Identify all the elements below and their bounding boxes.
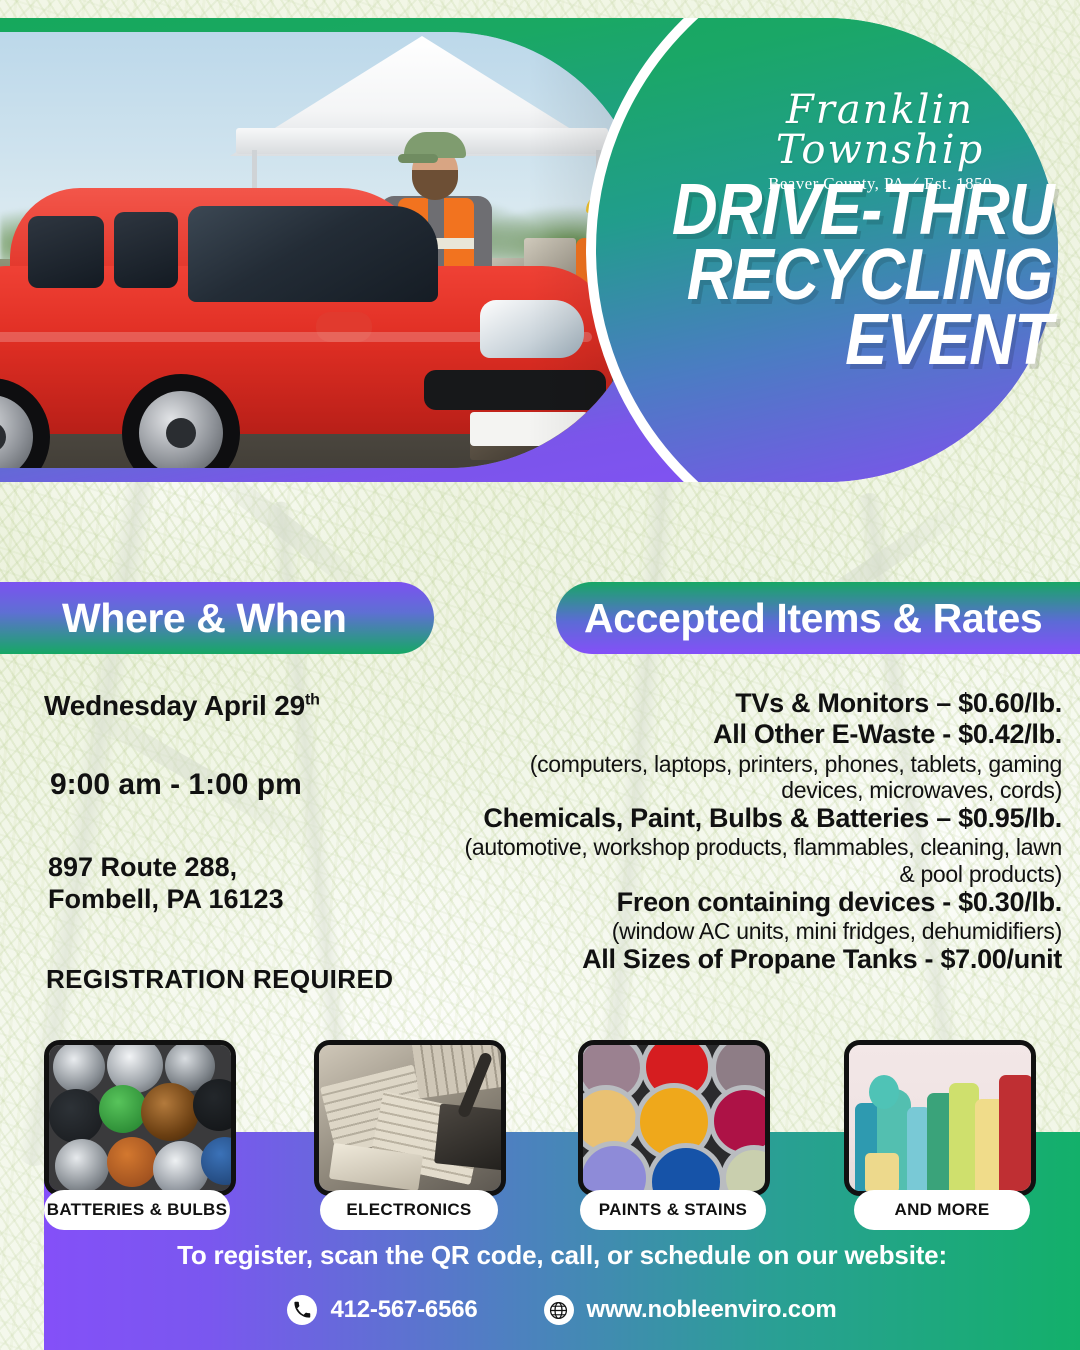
category-thumb-and-more [844, 1040, 1036, 1196]
globe-icon [544, 1295, 574, 1325]
footer-contact: To register, scan the QR code, call, or … [44, 1240, 1080, 1325]
battery-cell [55, 1139, 109, 1193]
flyer-canvas: Franklin Township Beaver County, PA/Est.… [0, 0, 1080, 1350]
cleaning-products-photo [849, 1045, 1031, 1191]
accepted-items-rates-list: TVs & Monitors – $0.60/lb. All Other E-W… [450, 688, 1070, 976]
category-thumb-batteries [44, 1040, 236, 1196]
battery-cell [49, 1089, 103, 1143]
photo-worker-cap-brim [398, 154, 438, 163]
rate-detail: (automotive, workshop products, flammabl… [450, 834, 1062, 886]
footer-contact-row: 412-567-6566 www.nobleenviro.com [44, 1295, 1080, 1325]
paint-can [578, 1141, 651, 1196]
category-label-paints: PAINTS & STAINS [580, 1190, 766, 1230]
where-when-heading-label: Where & When [62, 595, 346, 642]
photo-car-window [114, 212, 178, 288]
paints-photo [583, 1045, 765, 1191]
footer-phone-number: 412-567-6566 [330, 1296, 477, 1324]
battery-cell [107, 1137, 157, 1187]
battery-cell [193, 1079, 236, 1131]
category-thumbnails: BATTERIES & BULBS ELECTRONICS [0, 1040, 1080, 1240]
category-thumb-paints [578, 1040, 770, 1196]
accepted-items-heading-label: Accepted Items & Rates [584, 595, 1042, 642]
hero-photo-drive-thru-car [0, 32, 648, 468]
address-line-2: Fombell, PA 16123 [48, 884, 464, 916]
battery-cell-corroded [141, 1083, 199, 1141]
event-address: 897 Route 288, Fombell, PA 16123 [48, 852, 464, 916]
title-line-2: RECYCLING [672, 243, 1052, 308]
discarded-monitor [434, 1103, 506, 1170]
cleaning-brush [869, 1075, 899, 1109]
category-label-electronics: ELECTRONICS [320, 1190, 498, 1230]
title-line-1: DRIVE-THRU [672, 178, 1052, 243]
battery-cell [53, 1041, 105, 1093]
rate-detail: (window AC units, mini fridges, dehumidi… [450, 918, 1062, 944]
photo-car-window [28, 216, 104, 288]
accepted-items-heading-pill: Accepted Items & Rates [556, 582, 1080, 654]
battery-cell [99, 1085, 147, 1133]
header-block: Franklin Township Beaver County, PA/Est.… [0, 18, 1058, 482]
where-when-details: Wednesday April 29th 9:00 am - 1:00 pm 8… [44, 690, 464, 995]
rate-detail: (computers, laptops, printers, phones, t… [450, 751, 1062, 803]
title-line-3: EVENT [672, 308, 1052, 373]
photo-car-hub [166, 418, 196, 448]
cleaning-bottle [999, 1075, 1033, 1193]
rate-heading: Chemicals, Paint, Bulbs & Batteries – $0… [450, 803, 1062, 834]
where-when-heading-pill: Where & When [0, 582, 434, 654]
page-title: DRIVE-THRU RECYCLING EVENT [672, 178, 1052, 372]
footer-website-url: www.nobleenviro.com [587, 1296, 837, 1324]
footer-website[interactable]: www.nobleenviro.com [544, 1295, 837, 1325]
electronics-photo [319, 1045, 501, 1191]
registration-notice: REGISTRATION REQUIRED [46, 964, 464, 995]
event-date: Wednesday April 29th [44, 690, 464, 722]
cleaning-sponge [865, 1153, 899, 1193]
hero-photo-frame [0, 32, 648, 468]
rate-heading: Freon containing devices - $0.30/lb. [450, 887, 1062, 918]
footer-cta-text: To register, scan the QR code, call, or … [44, 1240, 1080, 1271]
event-date-suffix: th [305, 692, 320, 709]
footer-phone[interactable]: 412-567-6566 [287, 1295, 477, 1325]
rate-heading: TVs & Monitors – $0.60/lb. [450, 688, 1062, 719]
rate-heading: All Sizes of Propane Tanks - $7.00/unit [450, 944, 1062, 975]
event-time: 9:00 am - 1:00 pm [50, 768, 464, 802]
logo-script-text: Franklin Township [700, 90, 1060, 170]
phone-icon [287, 1295, 317, 1325]
address-line-1: 897 Route 288, [48, 852, 464, 884]
battery-cell [153, 1141, 209, 1196]
batteries-photo [49, 1045, 231, 1191]
category-thumb-electronics [314, 1040, 506, 1196]
discarded-keyboard [411, 1040, 502, 1099]
photo-car-windshield [188, 206, 438, 302]
category-label-and-more: AND MORE [854, 1190, 1030, 1230]
event-date-text: Wednesday April 29 [44, 690, 305, 721]
category-label-batteries: BATTERIES & BULBS [44, 1190, 230, 1230]
rate-heading: All Other E-Waste - $0.42/lb. [450, 719, 1062, 750]
